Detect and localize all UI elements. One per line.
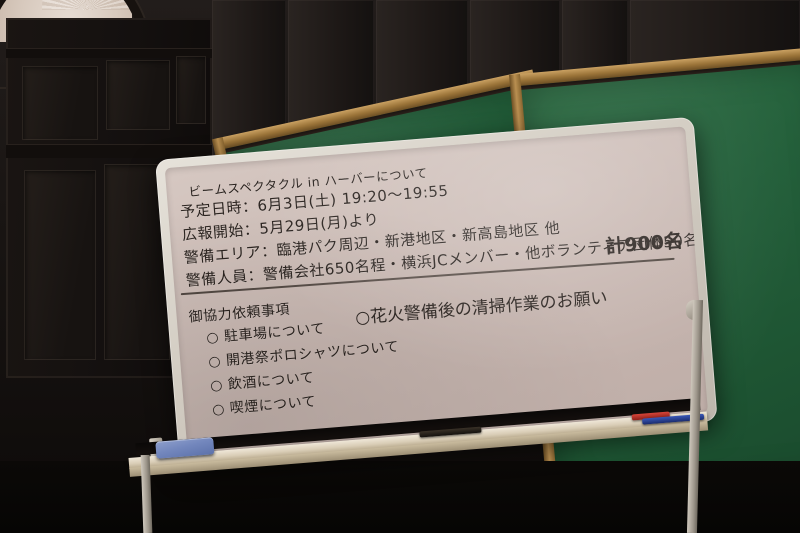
- door-rail-mid: [6, 144, 212, 158]
- photo-scene: ビームスペクタクル in ハーバーについて 予定日時：6月3日(土) 19:20…: [0, 0, 800, 533]
- door-panel-upper-far: [176, 56, 206, 124]
- door-panel-upper-right: [106, 60, 170, 130]
- whiteboard-cleanup-note: ○花火警備後の清掃作業のお願い: [354, 283, 608, 328]
- floor-shadow: [0, 461, 800, 533]
- whiteboard-total-count: 計900名: [604, 226, 684, 259]
- whiteboard-bullet-drinking: ○ 飲酒について: [209, 367, 315, 395]
- door-panel-lower-left: [24, 170, 96, 360]
- whiteboard-bullet-smoking: ○ 喫煙について: [211, 391, 317, 419]
- door-panel-upper-left: [22, 66, 98, 140]
